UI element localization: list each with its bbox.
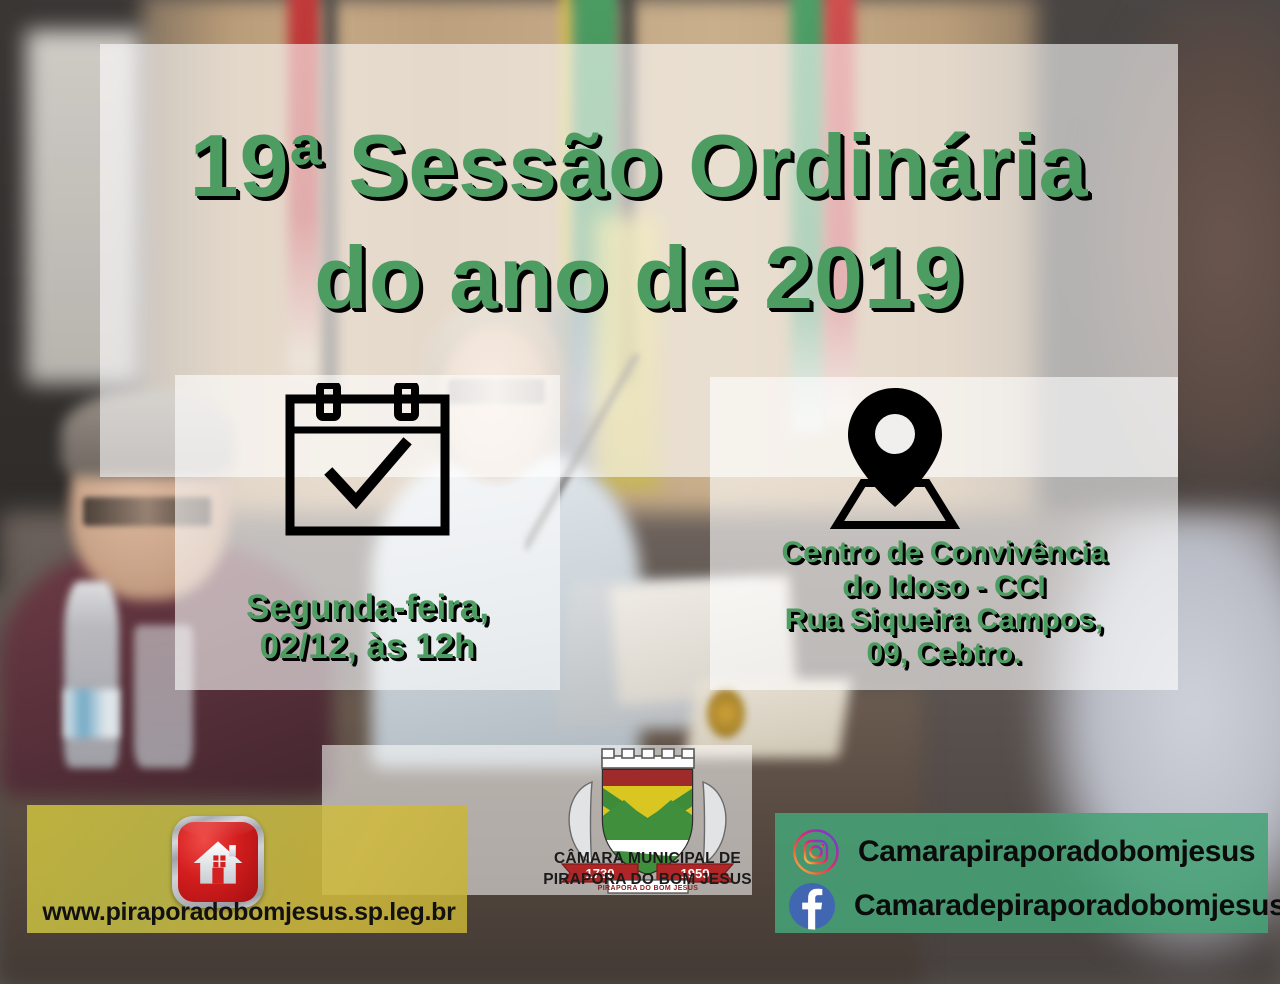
- event-poster: 19ª Sessão Ordinária do ano de 2019 Segu…: [0, 0, 1280, 984]
- coat-caption-line-2: PIRAPORA DO BOM JESUS: [520, 871, 775, 889]
- website-url[interactable]: www.piraporadobomjesus.sp.leg.br: [14, 898, 484, 927]
- location-line-2: do Idoso - CCI: [700, 570, 1188, 604]
- location-line-1: Centro de Convivência: [700, 536, 1188, 570]
- home-icon[interactable]: [172, 816, 264, 908]
- water-bottle: [64, 581, 119, 768]
- instagram-row[interactable]: Camarapiraporadobomjesus: [792, 828, 1255, 876]
- plaque-seal: [707, 689, 745, 738]
- calendar-check-icon: [280, 383, 455, 543]
- instagram-icon[interactable]: [792, 828, 840, 876]
- instagram-handle[interactable]: Camarapiraporadobomjesus: [858, 835, 1255, 869]
- house-glyph: [188, 832, 248, 892]
- map-pin-icon: [820, 385, 970, 530]
- location-line-3: Rua Siqueira Campos,: [700, 603, 1188, 637]
- title-line-2: do ano de 2019: [100, 222, 1178, 334]
- water-bottle-label: [64, 689, 119, 738]
- facebook-icon[interactable]: [788, 882, 836, 930]
- date-text: Segunda-feira, 02/12, às 12h: [175, 588, 560, 666]
- date-line-2: 02/12, às 12h: [175, 627, 560, 666]
- location-line-4: 09, Cebtro.: [700, 637, 1188, 671]
- page-title: 19ª Sessão Ordinária do ano de 2019: [100, 110, 1178, 334]
- facebook-handle[interactable]: Camaradepiraporadobomjesus: [854, 889, 1280, 923]
- coat-caption-line-1: CÂMARA MUNICIPAL DE: [520, 850, 775, 868]
- location-text: Centro de Convivência do Idoso - CCI Rua…: [700, 536, 1188, 670]
- facebook-row[interactable]: Camaradepiraporadobomjesus: [788, 882, 1280, 930]
- date-line-1: Segunda-feira,: [175, 588, 560, 627]
- title-line-1: 19ª Sessão Ordinária: [100, 110, 1178, 222]
